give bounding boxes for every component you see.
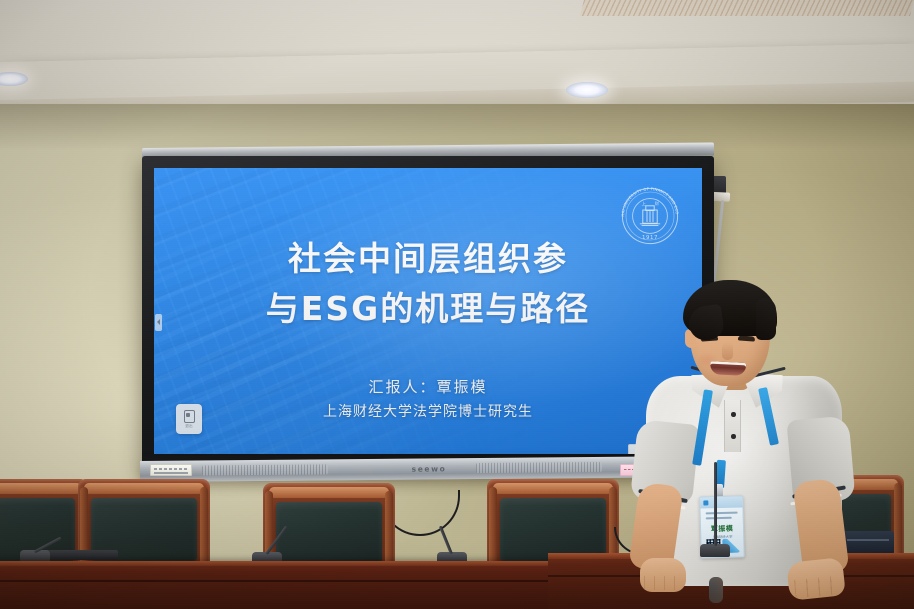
chair-post [385, 491, 393, 569]
svg-text:财: 财 [655, 200, 659, 207]
svg-text:上: 上 [642, 200, 646, 206]
slide-affiliation-line: 上海财经大学法学院博士研究生 [154, 400, 702, 424]
badge-header [700, 496, 742, 508]
shirt-button [731, 412, 736, 417]
presenter-hand-right [786, 557, 846, 601]
microphone-neck [439, 526, 453, 555]
presenter-person: 覃振模 上海财经大学 [638, 272, 858, 609]
chair-backrest [276, 502, 382, 565]
collapse-arrow-left-icon[interactable] [155, 314, 162, 331]
slide-title-line-2: 与ESG的机理与路径 [154, 284, 702, 334]
slide-title-line-1: 社会中间层组织参 [154, 234, 702, 284]
desk-front-panel-left [0, 561, 554, 609]
chair-post [200, 487, 208, 565]
slide-presenter-line: 汇报人：覃振模 [154, 374, 702, 400]
shirt-placket [724, 400, 741, 452]
presentation-room-photo: SHANGHAI UNIVERSITY OF FINANCE AND ECONO… [0, 0, 914, 609]
presenter-nose [722, 342, 733, 360]
shirt-button [731, 434, 736, 439]
chair-post [894, 483, 902, 561]
display-screen[interactable]: SHANGHAI UNIVERSITY OF FINANCE AND ECONO… [154, 168, 702, 454]
display-frame: SHANGHAI UNIVERSITY OF FINANCE AND ECONO… [142, 156, 714, 466]
asset-tag-sticker-left [150, 464, 192, 476]
presenter-hair-side [756, 298, 776, 340]
wall-top-shadow [0, 104, 914, 150]
interactive-display-panel[interactable]: SHANGHAI UNIVERSITY OF FINANCE AND ECONO… [142, 148, 714, 486]
ceiling-vent-grille [580, 0, 914, 16]
badge-text-line [706, 512, 738, 514]
slide-subtitle-block: 汇报人：覃振模 上海财经大学法学院博士研究生 [154, 374, 702, 424]
chair-backrest [500, 498, 606, 561]
panel-tool-icon [184, 410, 195, 423]
slide-text-block: 社会中间层组织参 与ESG的机理与路径 汇报人：覃振模 上海财经大学法学院博士研… [154, 234, 702, 424]
panel-floating-tool-button[interactable]: 退出 [176, 404, 202, 434]
panel-floating-tool-label: 退出 [185, 424, 193, 429]
badge-text-line [706, 517, 732, 519]
chair-post [489, 487, 497, 565]
microphone-head [709, 577, 723, 603]
microphone-neck [714, 462, 717, 546]
presenter-hand-left [640, 558, 686, 592]
downlight-icon [566, 82, 608, 98]
